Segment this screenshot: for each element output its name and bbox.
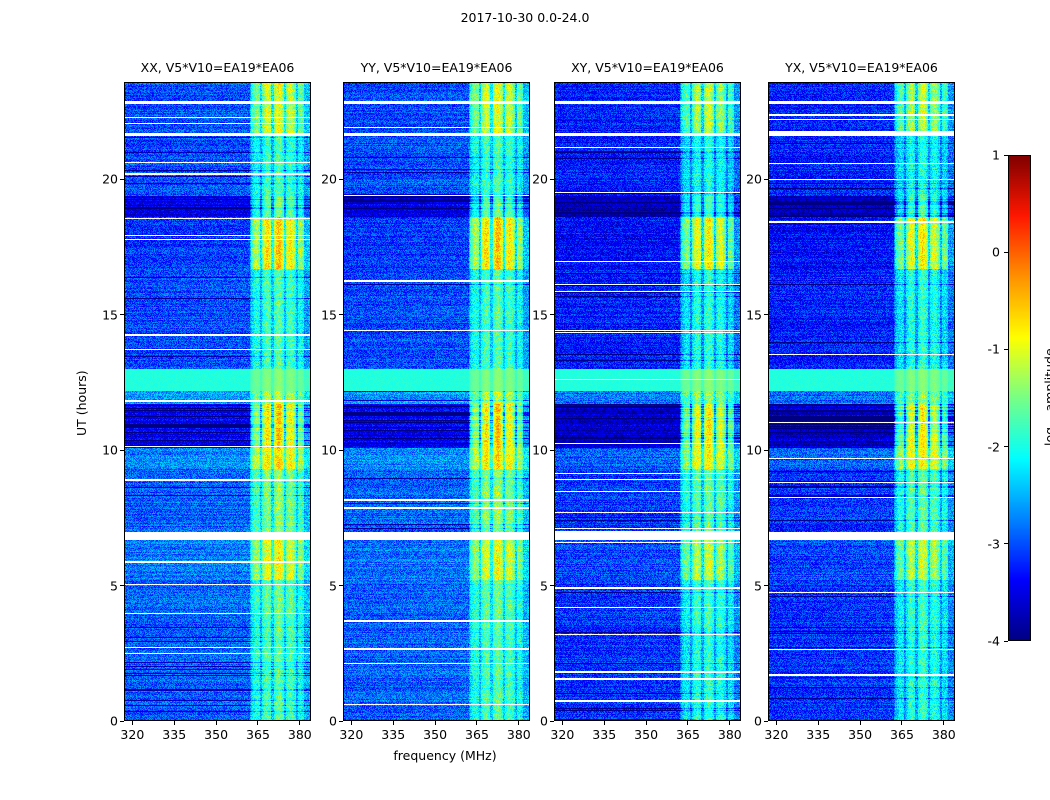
y-tick-label: 0 bbox=[728, 714, 762, 729]
colorbar-tick-mark bbox=[1004, 155, 1008, 156]
y-tick-mark bbox=[120, 721, 124, 722]
x-tick-label: 350 bbox=[204, 727, 228, 742]
y-tick-label: 10 bbox=[728, 443, 762, 458]
panel-xy: XY, V5*V10=EA19*EA06 bbox=[554, 82, 741, 721]
colorbar-tick-mark bbox=[1004, 641, 1008, 642]
x-tick-mark bbox=[351, 721, 352, 725]
y-tick-mark bbox=[339, 585, 343, 586]
x-tick-label: 320 bbox=[550, 727, 574, 742]
y-tick-mark bbox=[764, 721, 768, 722]
x-tick-label: 365 bbox=[246, 727, 270, 742]
y-tick-label: 15 bbox=[514, 307, 548, 322]
colorbar-tick-mark bbox=[1004, 446, 1008, 447]
x-tick-mark bbox=[901, 721, 902, 725]
x-tick-label: 365 bbox=[890, 727, 914, 742]
waterfall-image-xx bbox=[124, 82, 311, 721]
x-tick-label: 350 bbox=[423, 727, 447, 742]
panel-title-xx: XX, V5*V10=EA19*EA06 bbox=[124, 60, 311, 75]
x-tick-mark bbox=[435, 721, 436, 725]
x-tick-label: 380 bbox=[932, 727, 956, 742]
colorbar bbox=[1008, 155, 1031, 641]
x-tick-mark bbox=[646, 721, 647, 725]
y-tick-mark bbox=[339, 450, 343, 451]
y-tick-label: 0 bbox=[303, 714, 337, 729]
y-tick-label: 15 bbox=[84, 307, 118, 322]
y-tick-label: 15 bbox=[303, 307, 337, 322]
x-tick-label: 320 bbox=[339, 727, 363, 742]
colorbar-tick-label: -1 bbox=[964, 342, 1000, 357]
x-tick-mark bbox=[476, 721, 477, 725]
x-tick-label: 335 bbox=[162, 727, 186, 742]
y-tick-mark bbox=[550, 585, 554, 586]
y-tick-mark bbox=[764, 450, 768, 451]
colorbar-tick-label: 1 bbox=[964, 148, 1000, 163]
colorbar-tick-label: -2 bbox=[964, 439, 1000, 454]
x-tick-label: 335 bbox=[381, 727, 405, 742]
x-tick-label: 350 bbox=[848, 727, 872, 742]
colorbar-tick-mark bbox=[1004, 349, 1008, 350]
waterfall-image-xy bbox=[554, 82, 741, 721]
panel-xx: XX, V5*V10=EA19*EA06 bbox=[124, 82, 311, 721]
colorbar-label: log10 amplitude bbox=[1042, 348, 1050, 446]
x-tick-mark bbox=[132, 721, 133, 725]
x-tick-mark bbox=[299, 721, 300, 725]
figure-suptitle: 2017-10-30 0.0-24.0 bbox=[0, 10, 1050, 25]
x-tick-mark bbox=[818, 721, 819, 725]
y-tick-label: 20 bbox=[728, 172, 762, 187]
colorbar-tick-label: -3 bbox=[964, 536, 1000, 551]
y-tick-mark bbox=[120, 585, 124, 586]
waterfall-image-yx bbox=[768, 82, 955, 721]
figure-canvas: 2017-10-30 0.0-24.0 XX, V5*V10=EA19*EA06… bbox=[0, 0, 1050, 800]
panel-yy: YY, V5*V10=EA19*EA06 bbox=[343, 82, 530, 721]
y-tick-label: 5 bbox=[303, 578, 337, 593]
x-tick-mark bbox=[562, 721, 563, 725]
x-tick-label: 335 bbox=[806, 727, 830, 742]
x-tick-mark bbox=[776, 721, 777, 725]
x-tick-label: 320 bbox=[120, 727, 144, 742]
y-tick-label: 5 bbox=[514, 578, 548, 593]
x-tick-label: 350 bbox=[634, 727, 658, 742]
y-tick-label: 10 bbox=[84, 443, 118, 458]
colorbar-label-main: log bbox=[1042, 427, 1050, 446]
panel-yx: YX, V5*V10=EA19*EA06 bbox=[768, 82, 955, 721]
x-tick-label: 365 bbox=[676, 727, 700, 742]
x-tick-mark bbox=[860, 721, 861, 725]
x-tick-label: 380 bbox=[507, 727, 531, 742]
y-tick-mark bbox=[120, 450, 124, 451]
x-tick-label: 335 bbox=[592, 727, 616, 742]
x-tick-label: 365 bbox=[465, 727, 489, 742]
y-tick-mark bbox=[550, 721, 554, 722]
x-tick-mark bbox=[174, 721, 175, 725]
x-tick-label: 380 bbox=[288, 727, 312, 742]
colorbar-tick-mark bbox=[1004, 543, 1008, 544]
y-tick-label: 5 bbox=[728, 578, 762, 593]
x-tick-mark bbox=[257, 721, 258, 725]
y-tick-label: 15 bbox=[728, 307, 762, 322]
y-tick-label: 0 bbox=[514, 714, 548, 729]
y-axis-label: UT (hours) bbox=[74, 370, 89, 436]
waterfall-image-yy bbox=[343, 82, 530, 721]
y-tick-label: 20 bbox=[514, 172, 548, 187]
y-tick-mark bbox=[764, 179, 768, 180]
y-tick-mark bbox=[550, 450, 554, 451]
y-tick-label: 0 bbox=[84, 714, 118, 729]
y-tick-label: 20 bbox=[84, 172, 118, 187]
x-tick-label: 380 bbox=[718, 727, 742, 742]
x-tick-mark bbox=[393, 721, 394, 725]
colorbar-label-tail: amplitude bbox=[1042, 348, 1050, 415]
y-tick-label: 10 bbox=[514, 443, 548, 458]
x-tick-mark bbox=[604, 721, 605, 725]
y-tick-mark bbox=[120, 179, 124, 180]
y-tick-mark bbox=[550, 314, 554, 315]
panel-title-yx: YX, V5*V10=EA19*EA06 bbox=[768, 60, 955, 75]
y-tick-mark bbox=[339, 179, 343, 180]
colorbar-tick-mark bbox=[1004, 252, 1008, 253]
y-tick-mark bbox=[339, 314, 343, 315]
panel-title-xy: XY, V5*V10=EA19*EA06 bbox=[554, 60, 741, 75]
x-tick-mark bbox=[216, 721, 217, 725]
colorbar-tick-label: -4 bbox=[964, 634, 1000, 649]
x-tick-mark bbox=[687, 721, 688, 725]
x-tick-label: 320 bbox=[764, 727, 788, 742]
y-tick-label: 20 bbox=[303, 172, 337, 187]
y-tick-mark bbox=[339, 721, 343, 722]
panel-title-yy: YY, V5*V10=EA19*EA06 bbox=[343, 60, 530, 75]
y-tick-mark bbox=[764, 314, 768, 315]
x-tick-mark bbox=[943, 721, 944, 725]
y-tick-mark bbox=[550, 179, 554, 180]
y-tick-label: 10 bbox=[303, 443, 337, 458]
y-tick-label: 5 bbox=[84, 578, 118, 593]
y-tick-mark bbox=[764, 585, 768, 586]
y-tick-mark bbox=[120, 314, 124, 315]
colorbar-tick-label: 0 bbox=[964, 245, 1000, 260]
x-axis-label: frequency (MHz) bbox=[0, 748, 1050, 763]
